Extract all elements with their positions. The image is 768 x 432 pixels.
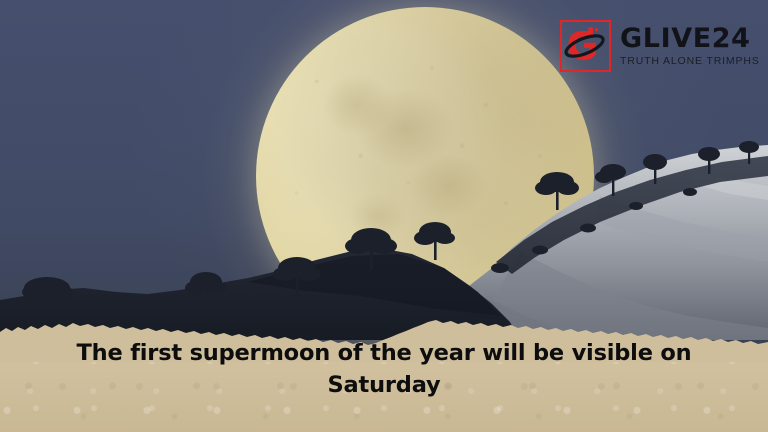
brand-logo[interactable]: GLIVE24 TRUTH ALONE TRIMPHS — [560, 20, 760, 72]
saturn-g-planet-icon — [560, 20, 611, 72]
caption-line-1: The first supermoon of the year will be … — [77, 340, 692, 366]
screenshot-root: GLIVE24 TRUTH ALONE TRIMPHS The first su… — [0, 0, 768, 432]
caption-headline: The first supermoon of the year will be … — [0, 338, 768, 402]
brand-tagline: TRUTH ALONE TRIMPHS — [620, 56, 760, 67]
caption-panel: The first supermoon of the year will be … — [0, 314, 768, 432]
brand-logo-text: GLIVE24 TRUTH ALONE TRIMPHS — [620, 25, 760, 67]
brand-name: GLIVE24 — [620, 25, 760, 52]
caption-line-2: Saturday — [328, 372, 441, 398]
